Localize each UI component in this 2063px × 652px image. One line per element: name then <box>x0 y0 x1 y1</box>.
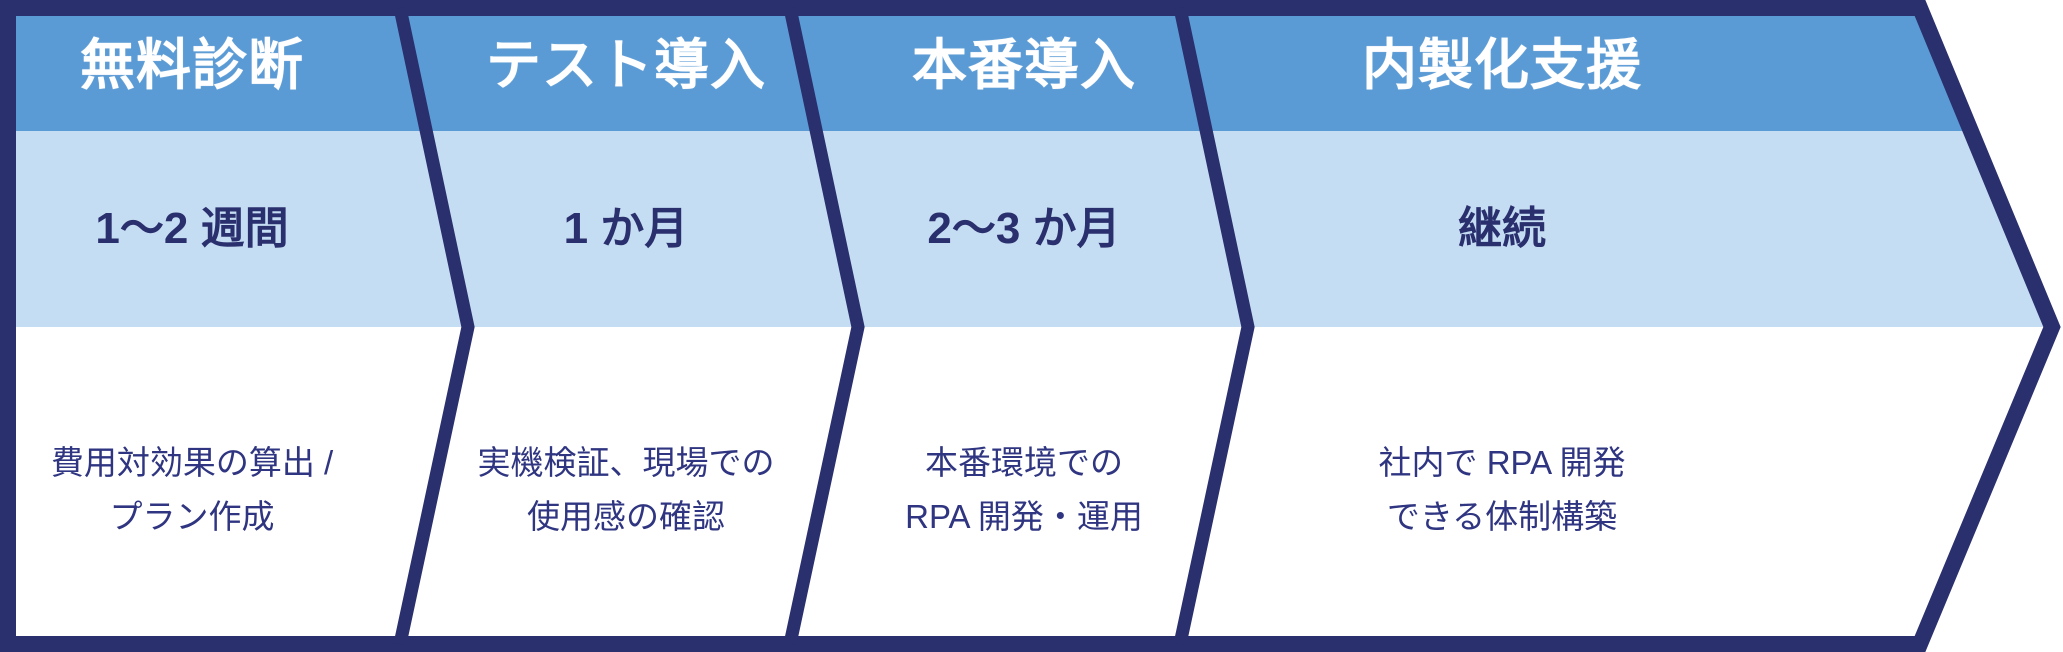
step-4-title: 内製化支援 <box>1222 0 1782 131</box>
step-2-title: テスト導入 <box>426 0 826 131</box>
step-3-description: 本番環境での RPA 開発・運用 <box>824 327 1224 652</box>
chevron-text-layer: 無料診断 1〜2 週間 費用対効果の算出 / プラン作成 テスト導入 1 か月 … <box>0 0 2063 652</box>
step-2-period: 1 か月 <box>426 131 826 327</box>
step-4-description: 社内で RPA 開発 できる体制構築 <box>1222 327 1782 652</box>
step-1-title: 無料診断 <box>0 0 392 131</box>
step-4-period: 継続 <box>1222 131 1782 327</box>
process-step-1[interactable]: 無料診断 1〜2 週間 費用対効果の算出 / プラン作成 <box>8 0 408 652</box>
step-1-period: 1〜2 週間 <box>0 131 392 327</box>
step-1-description: 費用対効果の算出 / プラン作成 <box>0 327 392 652</box>
step-3-period: 2〜3 か月 <box>824 131 1224 327</box>
process-step-4[interactable]: 内製化支援 継続 社内で RPA 開発 できる体制構築 <box>1188 0 1748 652</box>
step-3-title: 本番導入 <box>824 0 1224 131</box>
step-2-description: 実機検証、現場での 使用感の確認 <box>426 327 826 652</box>
process-step-3[interactable]: 本番導入 2〜3 か月 本番環境での RPA 開発・運用 <box>798 0 1198 652</box>
process-step-2[interactable]: テスト導入 1 か月 実機検証、現場での 使用感の確認 <box>408 0 808 652</box>
process-flow-diagram: 無料診断 1〜2 週間 費用対効果の算出 / プラン作成 テスト導入 1 か月 … <box>0 0 2063 652</box>
